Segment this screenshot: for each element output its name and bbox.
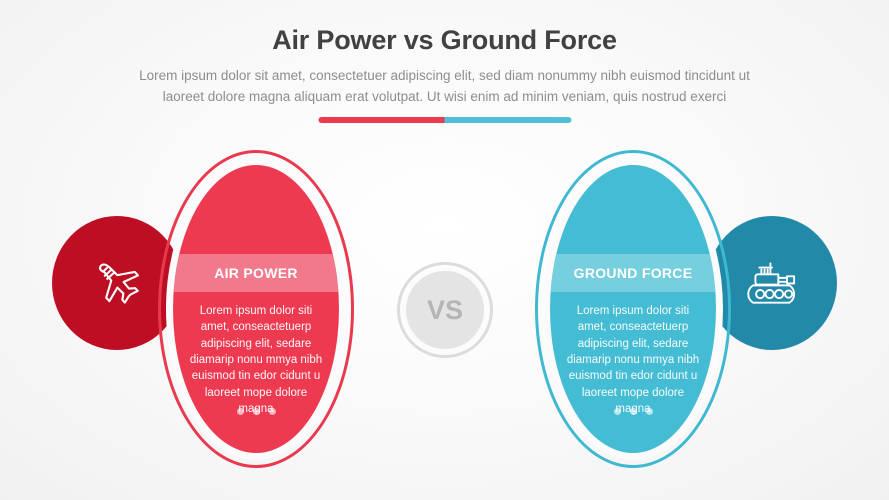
vs-label: VS — [427, 295, 463, 326]
dot — [630, 408, 637, 415]
ground-force-card[interactable]: GROUND FORCE Lorem ipsum dolor siti amet… — [550, 165, 716, 453]
air-power-card[interactable]: AIR POWER Lorem ipsum dolor siti amet, c… — [173, 165, 339, 453]
subtitle: Lorem ipsum dolor sit amet, consectetuer… — [45, 66, 845, 108]
header: Air Power vs Ground Force Lorem ipsum do… — [0, 0, 889, 108]
ground-force-title-band: GROUND FORCE — [550, 254, 716, 292]
page-title: Air Power vs Ground Force — [0, 24, 889, 56]
air-power-dots — [173, 408, 339, 415]
vs-badge: VS — [397, 262, 493, 358]
tank-icon — [742, 258, 802, 308]
air-power-title-band: AIR POWER — [173, 254, 339, 292]
subtitle-line-1: Lorem ipsum dolor sit amet, consectetuer… — [45, 66, 845, 87]
dot — [237, 408, 244, 415]
ground-force-dots — [550, 408, 716, 415]
ground-force-description: Lorem ipsum dolor siti amet, conseactetu… — [550, 303, 716, 417]
panel-air-power[interactable]: AIR POWER Lorem ipsum dolor siti amet, c… — [40, 150, 370, 468]
divider-segment-blue — [445, 117, 572, 123]
air-power-description: Lorem ipsum dolor siti amet, conseactetu… — [173, 303, 339, 417]
infographic-canvas: Air Power vs Ground Force Lorem ipsum do… — [0, 0, 889, 500]
dot — [614, 408, 621, 415]
vs-inner-circle: VS — [403, 268, 487, 352]
subtitle-line-2: laoreet dolore magna aliquam erat volutp… — [45, 87, 845, 108]
airplane-icon — [89, 255, 145, 311]
dot — [253, 408, 260, 415]
dot — [646, 408, 653, 415]
ground-force-label: GROUND FORCE — [574, 265, 693, 281]
panel-ground-force[interactable]: GROUND FORCE Lorem ipsum dolor siti amet… — [519, 150, 849, 468]
dot — [269, 408, 276, 415]
title-divider — [318, 117, 571, 123]
air-power-label: AIR POWER — [214, 265, 298, 281]
divider-segment-red — [318, 117, 445, 123]
